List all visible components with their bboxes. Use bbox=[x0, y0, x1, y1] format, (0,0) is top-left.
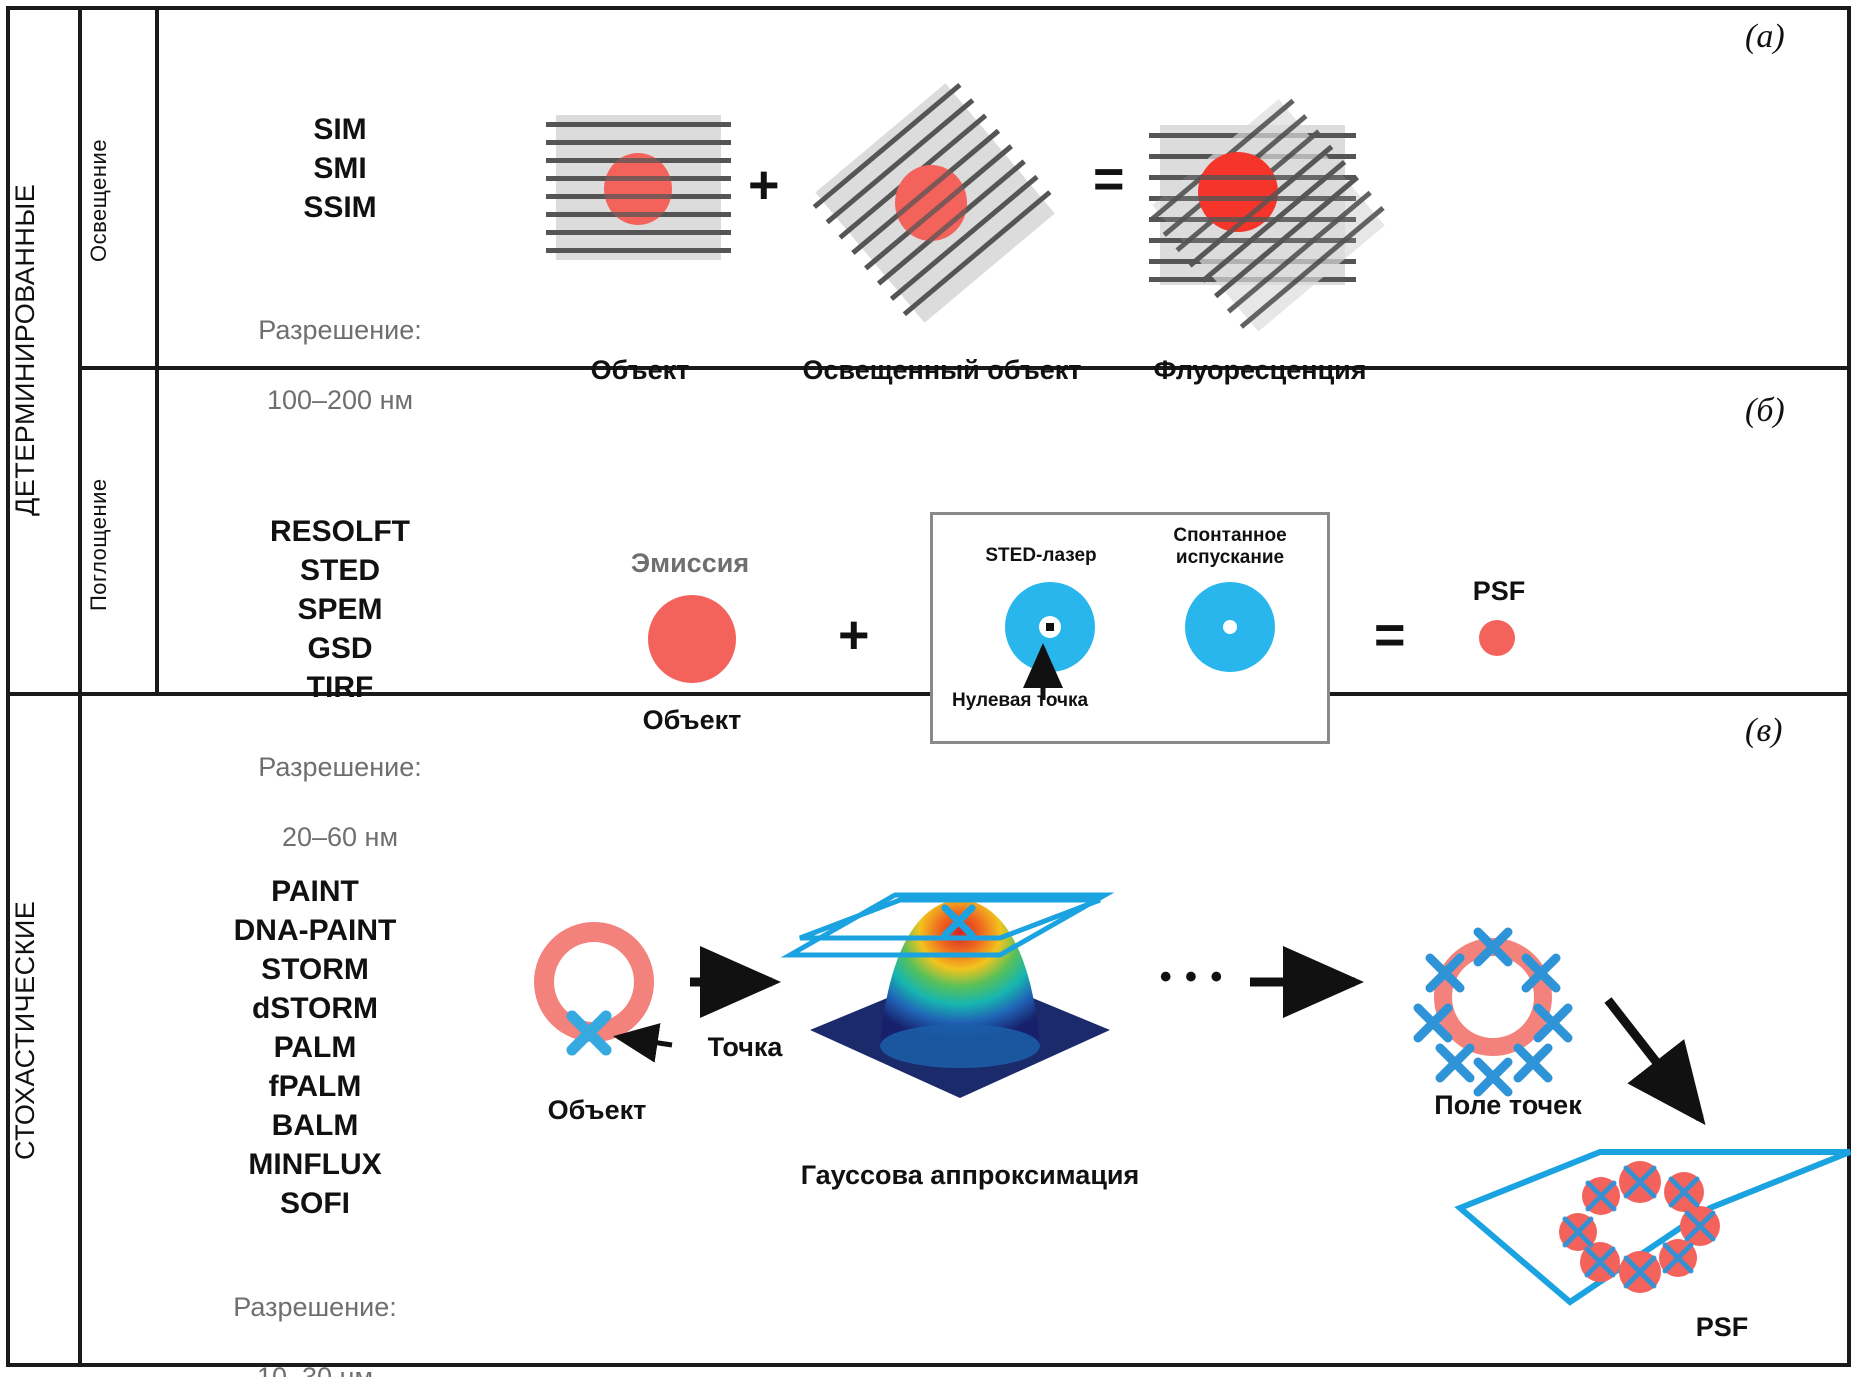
resolution-value-absorption: 20–60 нм bbox=[282, 822, 398, 852]
resolution-value-stochastic: 10–30 нм bbox=[257, 1362, 373, 1377]
caption-psf-row-c: PSF bbox=[1672, 1312, 1772, 1343]
grating-tile-fluorescence-rot-overlay bbox=[1152, 99, 1384, 331]
panel-letter-a: (а) bbox=[1745, 18, 1785, 56]
sted-laser-zero-dot bbox=[1046, 623, 1054, 631]
fluorophore-blob-psf-row-b bbox=[1479, 620, 1515, 656]
caption-ellipsis: • • • bbox=[1152, 958, 1232, 997]
spontaneous-emission-disc bbox=[1185, 582, 1275, 672]
operator-plus-row-b: + bbox=[838, 608, 870, 662]
figure-root: ДЕТЕРМИНИРОВАННЫЕ СТОХАСТИЧЕСКИЕ Освещен… bbox=[0, 0, 1863, 1377]
caption-object-row-a: Объект bbox=[545, 355, 735, 386]
resolution-absorption: Разрешение: 20–60 нм bbox=[190, 715, 490, 855]
caption-zero-point: Нулевая точка bbox=[952, 690, 1172, 712]
caption-psf-row-b: PSF bbox=[1424, 576, 1574, 607]
caption-point: Точка bbox=[680, 1032, 810, 1063]
ring-object bbox=[534, 922, 654, 1042]
grating-tile-illuminated-overlay bbox=[815, 83, 1055, 323]
resolution-stochastic: Разрешение: 10–30 нм bbox=[160, 1255, 470, 1377]
resolution-value-illumination: 100–200 нм bbox=[267, 385, 413, 415]
panel-letter-c: (в) bbox=[1745, 712, 1782, 750]
resolution-illumination: Разрешение: 100–200 нм bbox=[190, 278, 490, 418]
methods-list-absorption: RESOLFT STED SPEM GSD TIRF bbox=[190, 512, 490, 707]
category-label-deterministic: ДЕТЕРМИНИРОВАННЫЕ bbox=[10, 40, 78, 660]
gaussian-surface bbox=[800, 902, 1100, 1152]
caption-illuminated-object: Освещенный объект bbox=[782, 355, 1102, 386]
spontaneous-emission-center-hole bbox=[1223, 620, 1237, 634]
sted-laser-donut bbox=[1005, 582, 1095, 672]
operator-equals-row-b: = bbox=[1374, 608, 1406, 662]
resolution-label-absorption: Разрешение: bbox=[258, 752, 421, 782]
grating-stripes-illuminated-overlay bbox=[815, 83, 1055, 323]
panel-letter-b: (б) bbox=[1745, 392, 1785, 430]
caption-fluorescence: Флуоресценция bbox=[1120, 355, 1400, 386]
caption-sted-laser: STED-лазер bbox=[946, 545, 1136, 567]
grating-stripes-fluorescence-d-overlay bbox=[1152, 99, 1384, 331]
grating-tile-object-overlay bbox=[556, 115, 721, 260]
caption-emission: Эмиссия bbox=[590, 548, 790, 579]
sted-laser-zero-hole bbox=[1039, 616, 1061, 638]
resolution-label-illumination: Разрешение: bbox=[258, 315, 421, 345]
category-label-stochastic: СТОХАСТИЧЕСКИЕ bbox=[10, 760, 78, 1300]
point-field-ring bbox=[1434, 938, 1552, 1056]
methods-list-stochastic: PAINT DNA-PAINT STORM dSTORM PALM fPALM … bbox=[160, 872, 470, 1223]
grid-vline-subcategory bbox=[155, 6, 159, 696]
subcategory-label-absorption: Поглощение bbox=[86, 420, 154, 670]
grating-stripes-object-overlay bbox=[556, 115, 721, 260]
subcategory-label-illumination: Освещение bbox=[86, 60, 154, 340]
caption-object-row-b: Объект bbox=[592, 705, 792, 736]
fluorophore-blob-emission bbox=[648, 595, 736, 683]
grid-vline-category bbox=[78, 6, 82, 1367]
caption-gaussian-fit: Гауссова аппроксимация bbox=[760, 1160, 1180, 1191]
caption-spontaneous-emission: Спонтанное испускание bbox=[1140, 525, 1320, 569]
caption-point-field: Поле точек bbox=[1398, 1090, 1618, 1121]
resolution-label-stochastic: Разрешение: bbox=[233, 1292, 396, 1322]
methods-list-illumination: SIM SMI SSIM bbox=[190, 110, 490, 227]
caption-object-row-c: Объект bbox=[522, 1095, 672, 1126]
